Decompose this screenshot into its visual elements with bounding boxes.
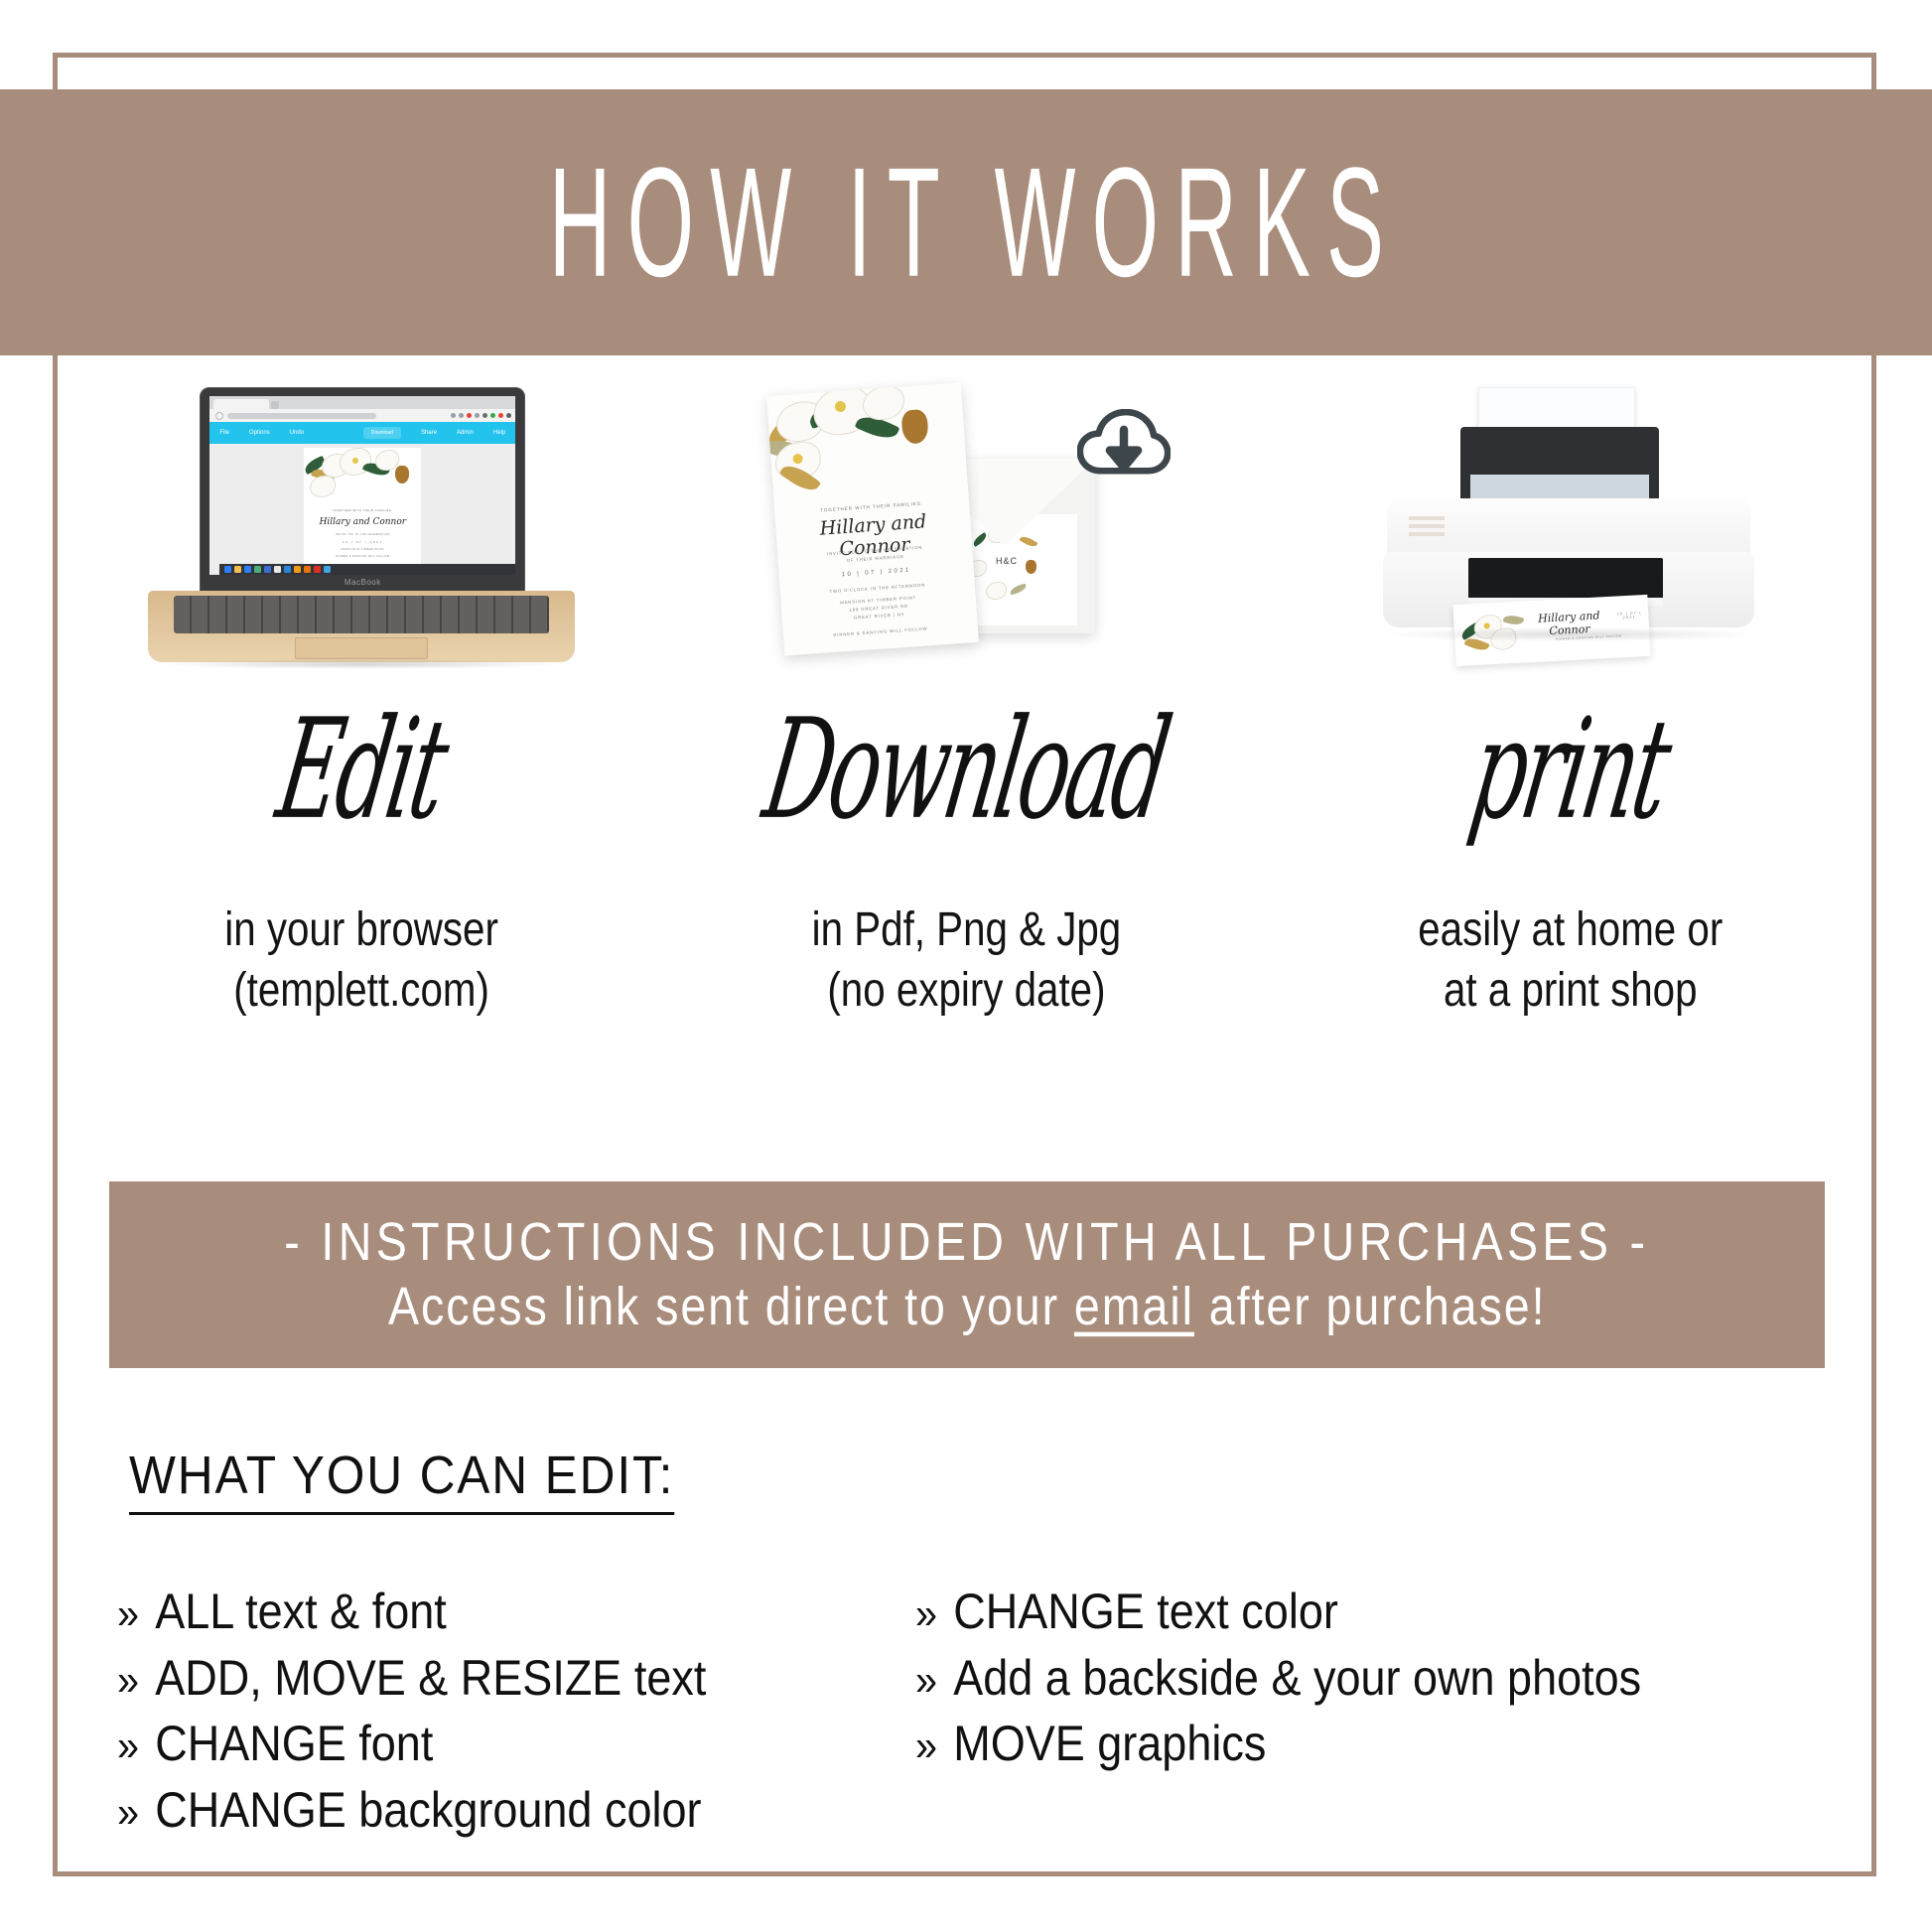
list-item-label: Add a backside & your own photos: [953, 1645, 1641, 1712]
banner-subline: Access link sent direct to your email af…: [388, 1277, 1546, 1338]
edit-list-left-column: » ALL text & font » ADD, MOVE & RESIZE t…: [117, 1579, 882, 1843]
list-item: » ADD, MOVE & RESIZE text: [117, 1645, 805, 1712]
invitation-date: 10 | 07 | 2021: [791, 564, 962, 582]
step-caption-line1: in Pdf, Png & Jpg: [811, 899, 1121, 960]
edit-section-heading: WHAT YOU CAN EDIT:: [129, 1445, 674, 1515]
leaf-icon: [1009, 584, 1027, 596]
leaf-icon: [779, 460, 821, 496]
browser-extension-icons: [451, 413, 511, 418]
list-item-label: CHANGE text color: [953, 1579, 1338, 1645]
leaf-icon: [766, 409, 810, 449]
app-icon: [284, 566, 291, 573]
step-caption-edit: in your browser (templett.com): [225, 899, 499, 1022]
editor-canvas: TOGETHER WITH THEIR FAMILIES, Hillary an…: [209, 444, 515, 573]
printer-illustration: Hillary and Connor 10 | 07 | 2021 DINNER…: [1268, 377, 1872, 675]
bullet-icon: »: [915, 1718, 937, 1776]
laptop-icon: File Options Undo Download Share Admin H…: [148, 387, 575, 675]
step-caption-print: easily at home or at a print shop: [1418, 899, 1723, 1022]
leaf-icon: [304, 456, 327, 475]
invitation-footer: DINNER & DANCING WILL FOLLOW: [318, 555, 407, 558]
laptop-keyboard: [174, 596, 549, 633]
reload-icon: [215, 412, 223, 420]
list-item-label: ALL text & font: [155, 1579, 447, 1645]
list-item: » Add a backside & your own photos: [915, 1645, 1746, 1712]
banner-headline: - INSTRUCTIONS INCLUDED WITH ALL PURCHAS…: [284, 1212, 1649, 1274]
leaf-icon: [311, 467, 337, 483]
extension-icon: [498, 413, 503, 418]
edit-list-right-column: » CHANGE text color » Add a backside & y…: [915, 1579, 1839, 1843]
how-it-works-infographic: HOW IT WORKS: [0, 0, 1932, 1932]
flower-center-icon: [792, 454, 803, 465]
editor-menu-undo: Undo: [290, 430, 304, 436]
chrome-icon: [274, 566, 281, 573]
step-script-label-edit: Edit: [261, 647, 462, 893]
banner-subline-before: Access link sent direct to your: [388, 1278, 1074, 1336]
laptop-screen: File Options Undo Download Share Admin H…: [209, 396, 515, 575]
leaf-icon: [362, 460, 390, 480]
list-item-label: CHANGE font: [155, 1711, 433, 1777]
header-band: HOW IT WORKS: [0, 89, 1932, 355]
invitation-invite-line: INVITE YOU TO THE CELEBRATION: [318, 533, 407, 536]
laptop-illustration: File Options Undo Download Share Admin H…: [60, 377, 664, 675]
bullet-icon: »: [117, 1784, 139, 1843]
flower-center-icon: [835, 401, 847, 413]
step-caption-line1: easily at home or: [1418, 899, 1723, 960]
app-icon: [234, 566, 241, 573]
petal-icon: [775, 400, 826, 443]
list-item: » CHANGE text color: [915, 1579, 1746, 1645]
step-caption-line1: in your browser: [225, 899, 499, 960]
extension-icon: [490, 413, 495, 418]
page-title: HOW IT WORKS: [532, 132, 1399, 312]
petal-icon: [862, 385, 905, 422]
extension-icon: [467, 413, 472, 418]
invitation-eyebrow: TOGETHER WITH THEIR FAMILIES,: [318, 509, 407, 512]
url-field: [227, 413, 376, 419]
bullet-icon: »: [117, 1718, 139, 1776]
leaf-icon: [766, 435, 805, 464]
laptop-brand-label: MacBook: [200, 578, 525, 587]
printer-shadow: [1387, 627, 1754, 641]
editor-menu-options: Options: [249, 430, 270, 436]
invitation-card: TOGETHER WITH THEIR FAMILIES, Hillary an…: [766, 382, 979, 655]
printer-icon: Hillary and Connor 10 | 07 | 2021 DINNER…: [1357, 387, 1784, 675]
browser-tabbar: [209, 396, 515, 409]
os-taskbar: [219, 564, 515, 575]
step-download: H&C: [664, 377, 1269, 1072]
extension-icon: [451, 413, 456, 418]
leaf-icon: [805, 397, 849, 430]
printer-control-buttons: [1409, 514, 1445, 536]
profile-avatar: [506, 413, 511, 418]
extension-icon: [459, 413, 464, 418]
editor-menu-file: File: [219, 430, 229, 436]
invitation-date: 10 | 07 | 2021: [318, 540, 407, 544]
step-caption-line2: (templett.com): [225, 960, 499, 1021]
instructions-banner: - INSTRUCTIONS INCLUDED WITH ALL PURCHAS…: [109, 1181, 1825, 1368]
edit-capabilities-list: » ALL text & font » ADD, MOVE & RESIZE t…: [117, 1579, 1864, 1843]
bullet-icon: »: [915, 1652, 937, 1711]
app-icon: [314, 566, 321, 573]
step-print: Hillary and Connor 10 | 07 | 2021 DINNER…: [1268, 377, 1872, 1072]
list-item-label: MOVE graphics: [953, 1711, 1266, 1777]
list-item: » CHANGE background color: [117, 1777, 805, 1844]
editor-download-button: Download: [363, 427, 401, 439]
new-tab-icon: [271, 401, 279, 409]
app-icon: [324, 566, 331, 573]
pinecone-icon: [1026, 560, 1036, 574]
invitation-venue: MANSION AT TIMBER POINT: [318, 548, 407, 551]
browser-urlbar: [209, 409, 515, 422]
step-edit: File Options Undo Download Share Admin H…: [60, 377, 664, 1072]
leaf-icon: [855, 411, 900, 445]
app-icon: [294, 566, 301, 573]
bullet-icon: »: [915, 1586, 937, 1644]
steps-row: File Options Undo Download Share Admin H…: [60, 377, 1872, 1072]
list-item: » ALL text & font: [117, 1579, 805, 1645]
list-item: » CHANGE font: [117, 1711, 805, 1777]
list-item-label: CHANGE background color: [155, 1777, 701, 1844]
petal-icon: [322, 454, 349, 478]
step-caption-download: in Pdf, Png & Jpg (no expiry date): [811, 899, 1121, 1022]
leaf-icon: [1502, 614, 1524, 627]
petal-icon: [812, 385, 873, 437]
bullet-icon: »: [117, 1586, 139, 1644]
editor-menu-help: Help: [493, 430, 505, 436]
floral-decoration: [766, 382, 972, 497]
monogram: H&C: [996, 556, 1018, 566]
app-icon: [304, 566, 311, 573]
invitation-names: Hillary and Connor: [314, 517, 411, 527]
petal-icon: [375, 450, 399, 471]
list-item: » MOVE graphics: [915, 1711, 1746, 1777]
step-caption-line2: (no expiry date): [811, 960, 1121, 1021]
petal-icon: [340, 448, 371, 476]
bullet-icon: »: [117, 1652, 139, 1711]
download-graphic: H&C: [758, 387, 1174, 675]
download-illustration: H&C: [664, 377, 1269, 675]
petal-icon: [773, 441, 822, 482]
banner-subline-after: after purchase!: [1194, 1278, 1547, 1336]
petal-icon: [310, 476, 336, 497]
browser-tab: [213, 399, 269, 409]
app-icon: [264, 566, 271, 573]
extension-icon: [483, 413, 487, 418]
app-icon: [224, 566, 231, 573]
step-caption-line2: at a print shop: [1418, 960, 1723, 1021]
step-script-label-print: print: [1455, 647, 1685, 893]
app-icon: [254, 566, 261, 573]
flower-center-icon: [352, 458, 358, 464]
pinecone-icon: [900, 409, 928, 445]
list-item-label: ADD, MOVE & RESIZE text: [155, 1645, 706, 1712]
petal-icon: [986, 582, 1007, 600]
editor-menu-share: Share: [421, 430, 437, 436]
templett-editor-toolbar: File Options Undo Download Share Admin H…: [209, 422, 515, 444]
extension-icon: [475, 413, 480, 418]
pinecone-icon: [395, 466, 409, 483]
printed-date: 10 | 07 | 2021: [1612, 611, 1646, 621]
editor-menu-admin: Admin: [457, 430, 474, 436]
floral-decoration: [304, 448, 421, 499]
app-icon: [244, 566, 251, 573]
banner-email-emphasis: email: [1074, 1278, 1194, 1336]
step-script-label-download: Download: [749, 647, 1184, 893]
cloud-download-icon: [1077, 409, 1171, 479]
invitation-footer: DINNER & DANCING WILL FOLLOW: [795, 623, 966, 640]
invitation-preview: TOGETHER WITH THEIR FAMILIES, Hillary an…: [304, 448, 421, 565]
laptop-lid: File Options Undo Download Share Admin H…: [200, 387, 525, 598]
